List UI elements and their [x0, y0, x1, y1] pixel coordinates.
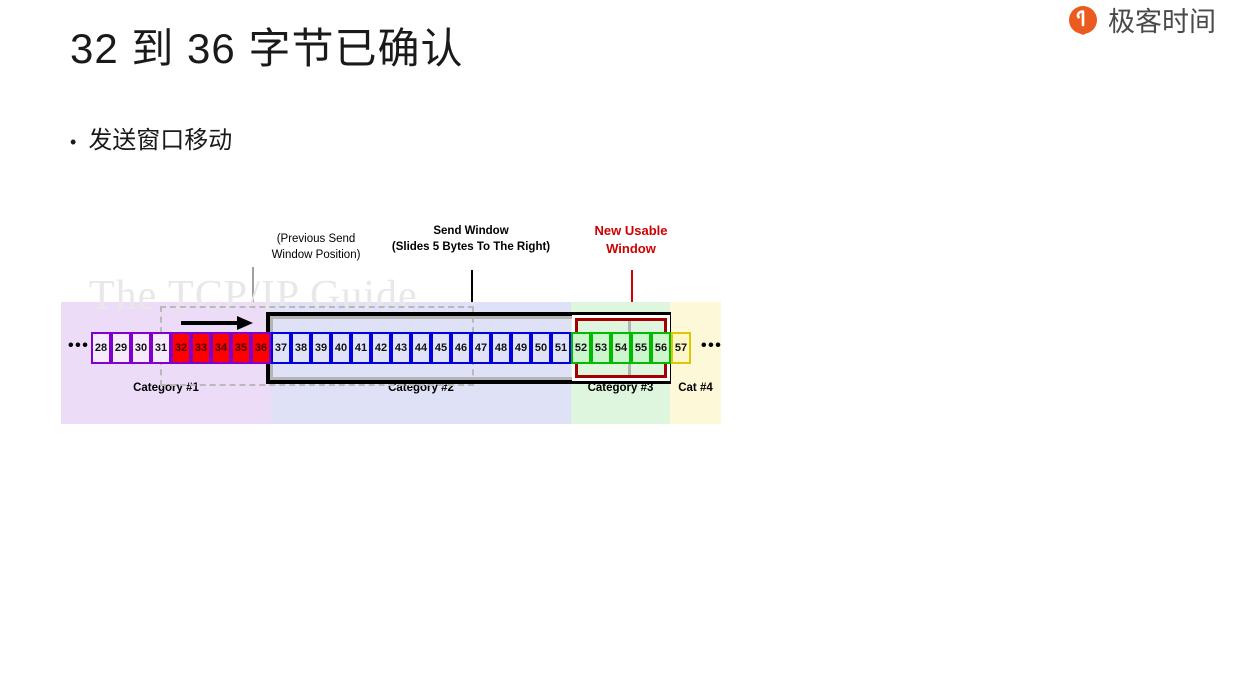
- byte-cell-38: 38: [291, 332, 311, 364]
- byte-cell-29: 29: [111, 332, 131, 364]
- ellipsis-left: •••: [68, 338, 89, 354]
- category-label-4: Cat #4: [670, 382, 721, 394]
- byte-cell-53: 53: [591, 332, 611, 364]
- byte-cell-56: 56: [651, 332, 671, 364]
- byte-cell-44: 44: [411, 332, 431, 364]
- geektime-logo-icon: [1065, 4, 1101, 40]
- new-usable-window-annotation-line2: Window: [561, 240, 701, 258]
- byte-cell-34: 34: [211, 332, 231, 364]
- window-slide-arrow-icon: [181, 316, 253, 330]
- send-window-annotation-line2: (Slides 5 Bytes To The Right): [351, 240, 591, 256]
- bullet-label: 发送窗口移动: [88, 120, 232, 155]
- byte-cell-52: 52: [571, 332, 591, 364]
- bullet-marker-icon: •: [70, 133, 76, 151]
- byte-cell-35: 35: [231, 332, 251, 364]
- byte-cell-42: 42: [371, 332, 391, 364]
- bullet-item: • 发送窗口移动: [70, 120, 232, 155]
- new-usable-window-annotation-line1: New Usable: [561, 222, 701, 240]
- byte-cell-36: 36: [251, 332, 271, 364]
- byte-cell-54: 54: [611, 332, 631, 364]
- send-window-annotation: Send Window (Slides 5 Bytes To The Right…: [351, 224, 591, 255]
- brand-logo: 极客时间: [1065, 4, 1216, 40]
- byte-cell-43: 43: [391, 332, 411, 364]
- byte-cell-40: 40: [331, 332, 351, 364]
- send-window-annotation-line1: Send Window: [351, 224, 591, 240]
- byte-cell-32: 32: [171, 332, 191, 364]
- byte-cell-28: 28: [91, 332, 111, 364]
- byte-cell-50: 50: [531, 332, 551, 364]
- brand-name: 极客时间: [1108, 9, 1216, 36]
- tcp-send-window-diagram: (Previous Send Window Position) Send Win…: [61, 212, 721, 424]
- byte-cell-30: 30: [131, 332, 151, 364]
- byte-cell-47: 47: [471, 332, 491, 364]
- byte-cell-55: 55: [631, 332, 651, 364]
- byte-cell-51: 51: [551, 332, 571, 364]
- byte-cell-45: 45: [431, 332, 451, 364]
- byte-cell-strip: 2829303132333435363738394041424344454647…: [91, 332, 691, 364]
- byte-cell-48: 48: [491, 332, 511, 364]
- byte-cell-41: 41: [351, 332, 371, 364]
- byte-cell-46: 46: [451, 332, 471, 364]
- byte-cell-37: 37: [271, 332, 291, 364]
- page-title: 32 到 36 字节已确认: [70, 24, 463, 74]
- new-usable-window-annotation: New Usable Window: [561, 222, 701, 257]
- byte-cell-33: 33: [191, 332, 211, 364]
- byte-cell-57: 57: [671, 332, 691, 364]
- ellipsis-right: •••: [701, 338, 722, 354]
- byte-cell-39: 39: [311, 332, 331, 364]
- byte-cell-49: 49: [511, 332, 531, 364]
- byte-cell-31: 31: [151, 332, 171, 364]
